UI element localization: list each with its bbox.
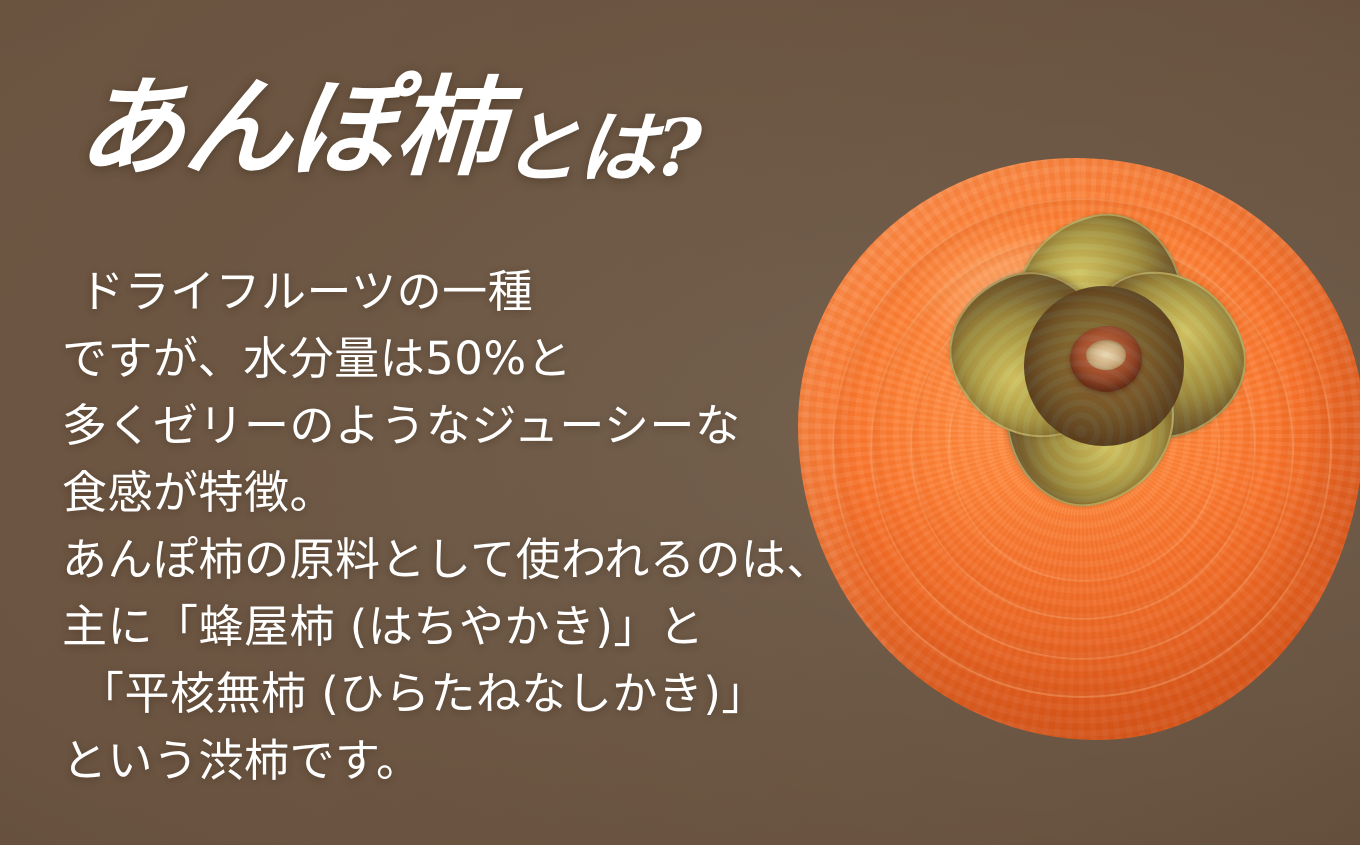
body-line-7: 「平核無柿 (ひらたねなしかき)」: [62, 660, 922, 727]
stem-core: [1086, 340, 1126, 370]
body-line-2: ですが、水分量は50%と: [62, 325, 922, 392]
persimmon-ridge-3: [910, 274, 1256, 620]
title-tail: とは?: [499, 110, 702, 188]
body-line-4: 食感が特徴。: [62, 459, 922, 526]
calyx-lobe-1: [999, 200, 1196, 389]
body-line-5: あんぽ柿の原料として使われるのは、: [62, 526, 922, 593]
body-text: ドライフルーツの一種 ですが、水分量は50%と 多くゼリーのようなジューシーな …: [62, 258, 922, 794]
title-main: あんぽ柿: [75, 74, 505, 182]
persimmon-ridge-2: [870, 236, 1294, 660]
calyx-lobe-2: [1065, 250, 1263, 455]
calyx-shading: [1032, 316, 1182, 432]
page-title: あんぽ柿とは?: [78, 74, 701, 182]
persimmon-stem-nub: [1070, 326, 1142, 392]
persimmon-ridge-4: [948, 310, 1220, 582]
body-line-8: という渋柿です。: [62, 727, 922, 794]
calyx-lobe-3: [993, 330, 1190, 519]
body-line-3: 多くゼリーのようなジューシーな: [62, 392, 922, 459]
body-line-1: ドライフルーツの一種: [62, 258, 922, 325]
promo-banner: あんぽ柿とは? ドライフルーツの一種 ですが、水分量は50%と 多くゼリーのよう…: [0, 0, 1360, 845]
calyx-center: [1024, 286, 1184, 446]
calyx-lobe-4: [927, 250, 1136, 465]
persimmon-calyx: [958, 220, 1250, 512]
body-line-6: 主に「蜂屋柿 (はちやかき)」と: [62, 593, 922, 660]
